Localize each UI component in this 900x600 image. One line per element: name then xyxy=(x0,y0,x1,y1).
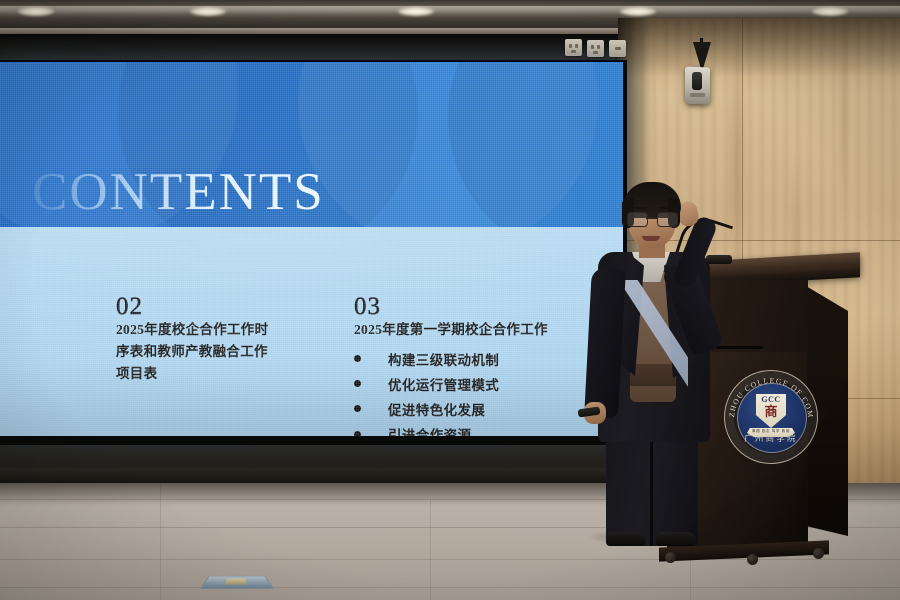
eyeglass-bridge xyxy=(646,217,657,219)
bullet-text: 促进特色化发展 xyxy=(388,399,485,419)
downlight-icon xyxy=(812,7,848,16)
podium-caster xyxy=(813,548,824,559)
ceiling-light-strip xyxy=(0,6,900,15)
column-01-line-2: 促特色 xyxy=(0,324,68,346)
bullet-text: 优化运行管理模式 xyxy=(388,374,499,394)
wall-outlet-icon xyxy=(565,39,582,56)
screen-bottom-bezel xyxy=(0,436,627,445)
bullet-dot-icon xyxy=(354,355,361,362)
slide-column-02: 02 2025年度校企合作工作时 序表和教师产教融合工作 项目表 xyxy=(116,294,321,385)
projection-screen: CONTENTS 作计划 促特色 优实践 02 2025年度校企合作工作时 序表… xyxy=(0,62,623,438)
podium-caster xyxy=(665,552,676,563)
downlight-icon xyxy=(620,7,656,16)
speaker-cone xyxy=(692,72,702,90)
wall-outlet-icon xyxy=(609,40,626,57)
presenter-leg-split xyxy=(650,438,653,546)
column-01-line-1: 作计划 xyxy=(0,302,68,324)
presenter xyxy=(580,176,740,546)
column-01-line-3: 优实践 xyxy=(0,346,68,368)
eyeglasses-icon xyxy=(627,212,677,225)
presenter-mouth xyxy=(642,236,660,241)
column-02-number: 02 xyxy=(116,294,321,319)
eyeglass-lens-right xyxy=(657,212,678,227)
list-item: 构建三级联动机制 xyxy=(354,346,499,371)
socket-plate xyxy=(225,578,246,584)
list-item: 优化运行管理模式 xyxy=(354,371,499,396)
column-02-line-2: 序表和教师产教融合工作 xyxy=(116,341,321,363)
emblem-shield-text: GCC xyxy=(761,395,780,404)
slide-header-band: CONTENTS xyxy=(0,62,623,227)
column-02-line-3: 项目表 xyxy=(116,363,321,385)
back-wall-upper-band xyxy=(0,34,660,60)
presentation-room-photo: CONTENTS 作计划 促特色 优实践 02 2025年度校企合作工作时 序表… xyxy=(0,0,900,600)
slide-title: CONTENTS xyxy=(32,166,325,219)
downlight-icon xyxy=(18,7,54,16)
floor-power-socket xyxy=(200,576,274,589)
bullet-text: 构建三级联动机制 xyxy=(388,349,499,369)
downlight-icon xyxy=(398,7,434,16)
wall-outlet-icon xyxy=(587,40,604,57)
downlight-icon xyxy=(190,7,226,16)
bullet-dot-icon xyxy=(354,380,361,387)
podium-caster xyxy=(747,554,758,565)
eyeglass-lens-left xyxy=(627,212,648,227)
presenter-shoe xyxy=(656,532,696,546)
presenter-shoe xyxy=(606,532,646,546)
projection-screen-frame: CONTENTS 作计划 促特色 优实践 02 2025年度校企合作工作时 序表… xyxy=(0,60,627,440)
list-item: 促进特色化发展 xyxy=(354,396,499,421)
speaker-port xyxy=(690,93,705,97)
slide-bullet-list: 构建三级联动机制 优化运行管理模式 促进特色化发展 引进合作资源 打造访企游学品… xyxy=(354,346,499,438)
wall-skirting xyxy=(0,468,660,484)
emblem-shield-glyph: 商 xyxy=(764,405,777,418)
slide-column-01: 作计划 促特色 优实践 xyxy=(0,302,68,368)
wood-wall-top-shadow xyxy=(618,18,900,78)
column-02-line-1: 2025年度校企合作工作时 xyxy=(116,319,321,341)
bullet-dot-icon xyxy=(354,405,361,412)
